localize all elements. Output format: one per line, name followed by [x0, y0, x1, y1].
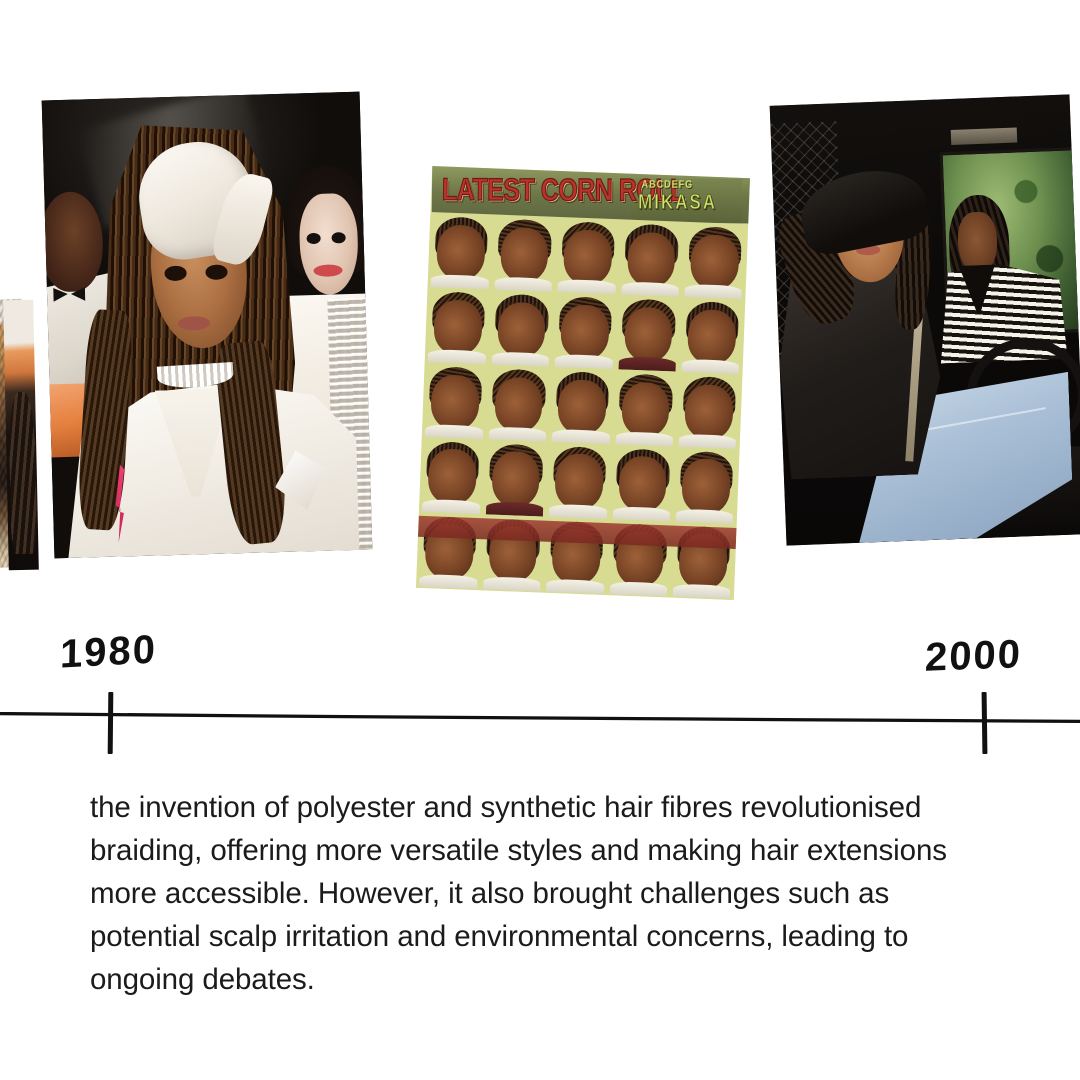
hairstyle-cell — [676, 373, 741, 449]
poster-brand-top-text: ABCDEFG — [642, 178, 694, 190]
photo-collage: LATEST CORN ROLL ABCDEFG MIKASA — [0, 0, 1080, 610]
hairstyle-cell — [679, 298, 744, 374]
michael-jackson-eye-left — [306, 232, 321, 243]
body-paragraph: the invention of polyester and synthetic… — [90, 786, 990, 1001]
hairstyle-cell — [429, 213, 494, 289]
braid-texture — [8, 392, 37, 555]
hairstyle-cell — [555, 218, 620, 294]
hairstyle-cell — [486, 366, 551, 442]
hairstyle-cell — [420, 438, 485, 514]
hairstyle-cell — [550, 368, 615, 444]
timeline-marker-label-1980: 1980 — [60, 627, 158, 677]
timeline-axis — [0, 712, 1080, 726]
hairstyle-cell — [619, 221, 684, 297]
hairstyle-cell — [489, 291, 554, 367]
hairstyle-cell — [673, 448, 738, 524]
timeline-tick-1980 — [108, 692, 114, 754]
hairstyle-cell — [610, 445, 675, 521]
hairstyle-cell — [483, 440, 548, 516]
timeline-tick-2000 — [982, 692, 988, 754]
hairstyle-cell — [426, 288, 491, 364]
photo-cornrow-salon-poster: LATEST CORN ROLL ABCDEFG MIKASA — [416, 166, 750, 600]
timeline: 1980 2000 — [0, 600, 1080, 760]
hairstyle-cell — [547, 443, 612, 519]
timeline-marker-label-2000: 2000 — [924, 632, 1022, 680]
hairstyle-cell — [613, 370, 678, 446]
page-root: LATEST CORN ROLL ABCDEFG MIKASA — [0, 0, 1080, 1080]
hairstyle-cell — [616, 296, 681, 372]
hairstyle-cell — [492, 216, 557, 292]
hairstyle-cell — [423, 363, 488, 439]
metal-plate — [951, 127, 1018, 145]
poster-brand-text: MIKASA — [638, 190, 717, 215]
photo-edge-left-secondary — [3, 300, 39, 571]
hairstyle-cell — [552, 293, 617, 369]
photo-janet-jackson-jeep — [770, 94, 1080, 545]
photo-janet-jackson-michael-jackson — [42, 92, 373, 559]
hairstyle-cell — [682, 223, 747, 299]
michael-jackson-lips — [313, 264, 342, 277]
poster-title: LATEST CORN ROLL — [441, 172, 632, 209]
